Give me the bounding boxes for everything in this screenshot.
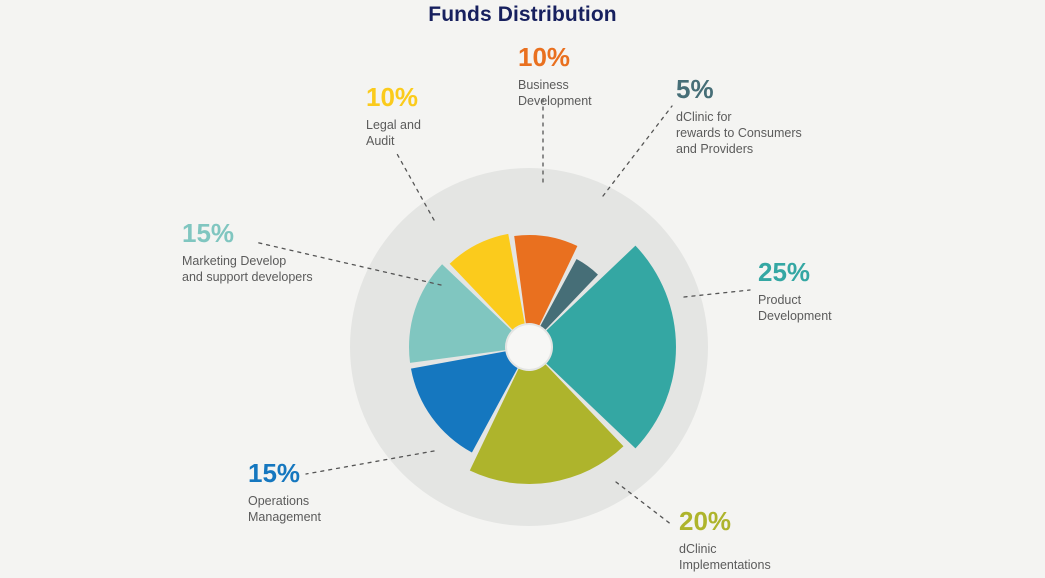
percent-business-development: 10% bbox=[518, 44, 668, 70]
callout-dclinic-implementations: 20% dClinic Implementations bbox=[679, 508, 849, 573]
percent-legal-audit: 10% bbox=[366, 84, 516, 110]
leader-line-dclinic-rewards bbox=[603, 106, 672, 196]
label-marketing-developers: Marketing Develop and support developers bbox=[182, 253, 362, 285]
percent-operations-management: 15% bbox=[248, 460, 408, 486]
callout-dclinic-rewards: 5% dClinic for rewards to Consumers and … bbox=[676, 76, 856, 157]
label-dclinic-rewards: dClinic for rewards to Consumers and Pro… bbox=[676, 109, 856, 157]
callout-business-development: 10% Business Development bbox=[518, 44, 668, 109]
percent-dclinic-implementations: 20% bbox=[679, 508, 849, 534]
chart-canvas: Funds Distribution 10% Business Developm… bbox=[0, 0, 1045, 578]
percent-product-development: 25% bbox=[758, 259, 908, 285]
callout-operations-management: 15% Operations Management bbox=[248, 460, 408, 525]
percent-marketing-developers: 15% bbox=[182, 220, 362, 246]
label-dclinic-implementations: dClinic Implementations bbox=[679, 541, 849, 573]
donut-center-hole bbox=[507, 325, 551, 369]
callout-marketing-developers: 15% Marketing Develop and support develo… bbox=[182, 220, 362, 285]
label-product-development: Product Development bbox=[758, 292, 908, 324]
label-operations-management: Operations Management bbox=[248, 493, 408, 525]
callout-legal-audit: 10% Legal and Audit bbox=[366, 84, 516, 149]
percent-dclinic-rewards: 5% bbox=[676, 76, 856, 102]
label-legal-audit: Legal and Audit bbox=[366, 117, 516, 149]
leader-line-dclinic-implementations bbox=[616, 482, 672, 525]
callout-product-development: 25% Product Development bbox=[758, 259, 908, 324]
label-business-development: Business Development bbox=[518, 77, 668, 109]
